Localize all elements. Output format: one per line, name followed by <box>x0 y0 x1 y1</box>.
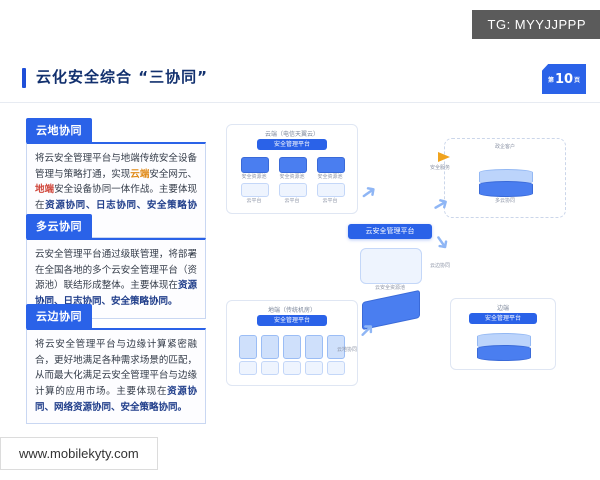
device-base-1 <box>239 361 257 375</box>
panel-cloud-side: 云端（电信天翼云） 安全管理平台 安全资源池 安全资源池 安全资源池 云平台 云… <box>226 124 358 214</box>
card-tab-cloud-edge: 云边协同 <box>26 304 92 328</box>
panel-cloud-title: 云端（电信天翼云） <box>227 125 357 138</box>
page-lead-label: 第 <box>548 75 554 84</box>
card-tab-cloud-ground: 云地协同 <box>26 118 92 142</box>
arrow-cloud-to-center: ➜ <box>356 179 381 205</box>
card-body-cloud-edge: 将云安全管理平台与边缘计算紧密融合，更好地满足各种需求场景的匹配，从而最大化满足… <box>26 328 206 424</box>
label-cloud-ground-collab: 云地协同 <box>322 346 372 353</box>
page-number-tag: 第 10 页 <box>542 64 586 94</box>
card-text-hl-ground: 地端 <box>35 184 54 195</box>
label-cloud-edge-collab: 云边协同 <box>418 262 462 269</box>
device-box-3 <box>283 335 301 359</box>
label-resource-pool-1: 安全资源池 <box>235 173 273 180</box>
card-cloud-edge: 云边协同 将云安全管理平台与边缘计算紧密融合，更好地满足各种需求场景的匹配，从而… <box>26 304 206 424</box>
device-box-1 <box>239 335 257 359</box>
badge-cloud-security-platform: 安全管理平台 <box>257 139 327 150</box>
slide-canvas: 云化安全综合 “三协同” 第 10 页 云地协同 将云安全管理平台与地端传统安全… <box>0 56 600 451</box>
label-resource-pool-2: 安全资源池 <box>273 173 311 180</box>
badge-edge-security-platform: 安全管理平台 <box>469 313 537 324</box>
page-unit-label: 页 <box>574 75 580 84</box>
label-cloud-platform-2: 云平台 <box>273 197 311 204</box>
device-base-2 <box>261 361 279 375</box>
panel-enterprise-title: 政企客户 <box>445 143 565 150</box>
edge-cylinder-bottom <box>477 345 531 361</box>
panel-edge-side: 边端 安全管理平台 <box>450 298 556 370</box>
label-center-cloud-pool: 云安全资源池 <box>360 284 420 291</box>
arrow-center-to-edge: ➜ <box>429 229 455 254</box>
card-text-seg: 云安全管理平台通过级联管理，将部署在全国各地的多个云安全管理平台（资源池）联结形… <box>35 249 197 291</box>
header-accent-bar <box>22 68 26 88</box>
slide-header: 云化安全综合 “三协同” 第 10 页 <box>0 56 600 103</box>
page-number: 10 <box>555 72 573 87</box>
architecture-diagram: 云端（电信天翼云） 安全管理平台 安全资源池 安全资源池 安全资源池 云平台 云… <box>222 124 582 434</box>
device-base-4 <box>305 361 323 375</box>
label-resource-pool-3: 安全资源池 <box>311 173 349 180</box>
node-resource-pool-3 <box>317 157 345 173</box>
label-cloud-platform-1: 云平台 <box>235 197 273 204</box>
device-box-4 <box>305 335 323 359</box>
card-text-seg: 安全网元、 <box>149 169 197 180</box>
panel-ground-side: 地端（传统机房） 安全管理平台 <box>226 300 358 386</box>
enterprise-cylinder-bottom <box>479 181 533 197</box>
device-base-5 <box>327 361 345 375</box>
device-base-3 <box>283 361 301 375</box>
tg-watermark: TG: MYYJJPPP <box>472 10 600 39</box>
node-resource-pool-1 <box>241 157 269 173</box>
page-title: 云化安全综合 “三协同” <box>36 66 208 87</box>
label-multi-cloud-collab: 多云协同 <box>479 197 531 204</box>
megaphone-icon <box>438 152 450 162</box>
device-box-2 <box>261 335 279 359</box>
card-multi-cloud: 多云协同 云安全管理平台通过级联管理，将部署在全国各地的多个云安全管理平台（资源… <box>26 214 206 319</box>
panel-ground-title: 地端（传统机房） <box>227 301 357 314</box>
node-cloud-platform-3 <box>317 183 345 197</box>
card-tab-multi-cloud: 多云协同 <box>26 214 92 238</box>
label-security-service: 安全服务 <box>420 164 460 171</box>
label-cloud-platform-3: 云平台 <box>311 197 349 204</box>
card-text-hl-cloud: 云端 <box>130 169 149 180</box>
node-cloud-platform-1 <box>241 183 269 197</box>
url-watermark: www.mobilekyty.com <box>0 437 158 470</box>
badge-center-cloud-platform: 云安全管理平台 <box>348 224 432 239</box>
panel-edge-title: 边端 <box>451 299 555 312</box>
center-cloud-body <box>360 248 422 284</box>
node-cloud-platform-2 <box>279 183 307 197</box>
badge-ground-security-platform: 安全管理平台 <box>257 315 327 326</box>
panel-enterprise-customers: 政企客户 多云协同 <box>444 138 566 218</box>
node-resource-pool-2 <box>279 157 307 173</box>
